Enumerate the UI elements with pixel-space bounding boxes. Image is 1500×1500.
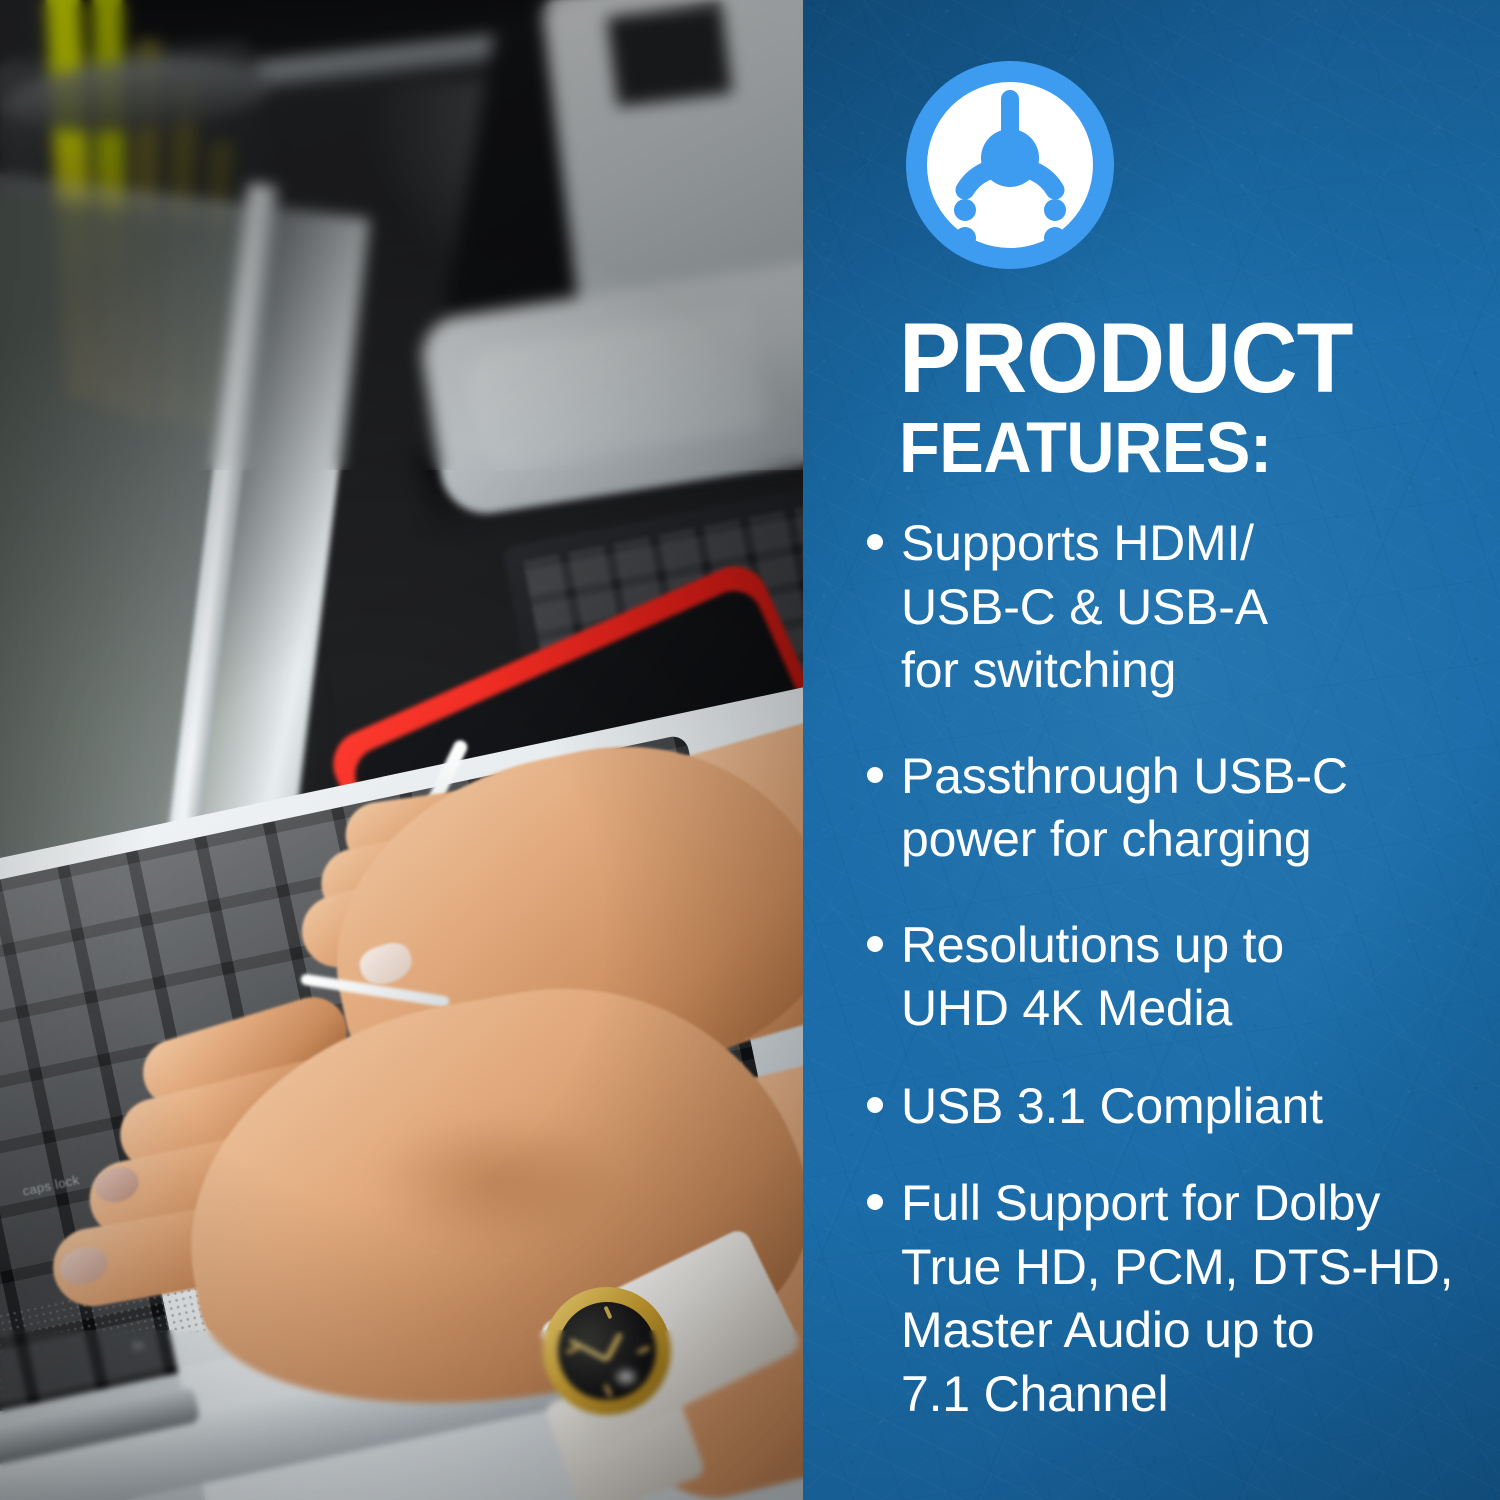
hand-shading xyxy=(330,1090,660,1270)
bullet-icon xyxy=(867,1097,883,1113)
title-line-product: PRODUCT xyxy=(899,312,1425,403)
page-title: PRODUCT FEATURES: xyxy=(899,312,1459,485)
bullet-icon xyxy=(867,534,883,550)
feature-list-item: Passthrough USB-C power for charging xyxy=(867,745,1487,872)
white-device-notch xyxy=(607,3,732,106)
feature-list-item: USB 3.1 Compliant xyxy=(867,1075,1487,1139)
feature-list-item: Full Support for Dolby True HD, PCM, DTS… xyxy=(867,1172,1487,1426)
feature-text: Passthrough USB-C power for charging xyxy=(901,745,1348,872)
watch-glass-glare xyxy=(612,1366,640,1388)
feature-list-item: Supports HDMI/ USB-C & USB-A for switchi… xyxy=(867,512,1487,703)
usb-hub-splitter-icon xyxy=(903,58,1117,272)
bullet-icon xyxy=(867,936,883,952)
feature-list-item: Resolutions up to UHD 4K Media xyxy=(867,914,1487,1041)
features-panel: PRODUCT FEATURES: Supports HDMI/ USB-C &… xyxy=(803,0,1500,1500)
bullet-icon xyxy=(867,767,883,783)
feature-text: Supports HDMI/ USB-C & USB-A for switchi… xyxy=(901,512,1268,703)
product-lifestyle-photo: caps lock shift fn control option xyxy=(0,0,803,1500)
product-features-poster: caps lock shift fn control option xyxy=(0,0,1500,1500)
feature-text: Full Support for Dolby True HD, PCM, DTS… xyxy=(901,1172,1453,1426)
feature-list: Supports HDMI/ USB-C & USB-A for switchi… xyxy=(867,512,1487,1468)
title-line-features: FEATURES: xyxy=(899,413,1425,485)
feature-text: Resolutions up to UHD 4K Media xyxy=(901,914,1284,1041)
bullet-icon xyxy=(867,1194,883,1210)
feature-text: USB 3.1 Compliant xyxy=(901,1075,1323,1139)
